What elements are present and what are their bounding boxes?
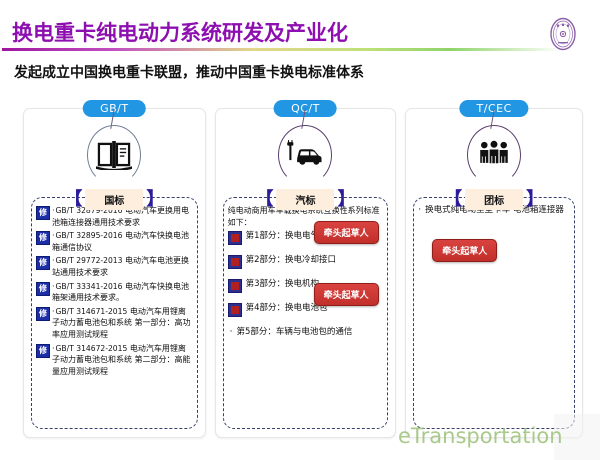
bullet: · xyxy=(52,256,55,265)
list-item-text: ·GB/T 33341-2016 电动汽车快换电池箱架通用技术要求。 xyxy=(52,281,193,304)
list-item-text: ·GB/T 32895-2016 电动汽车快换电池箱通信协议 xyxy=(52,230,193,253)
standards-card-gbt: GB/T 【 xyxy=(23,108,206,438)
bracket-right: 】 xyxy=(526,191,544,209)
tag-label: 汽标 xyxy=(276,189,334,210)
part-marker-icon xyxy=(228,303,242,317)
bullet: · xyxy=(230,327,233,338)
part-marker-icon xyxy=(228,231,242,245)
revision-badge: 修 xyxy=(36,282,50,296)
list-item: 修 ·GB/T 32895-2016 电动汽车快换电池箱通信协议 xyxy=(36,230,193,253)
bracket-right: 】 xyxy=(337,191,355,209)
standards-card-qct: QC/T xyxy=(215,108,397,438)
bullet: · xyxy=(52,282,55,291)
electric-car-charging-icon xyxy=(278,127,332,181)
watermark: eTransportation xyxy=(398,424,563,448)
standard-code: GB/T 29772-2013 xyxy=(56,256,123,265)
part-marker-icon xyxy=(228,255,242,269)
standard-code: GB/T 33341-2016 xyxy=(56,282,123,291)
revision-badge: 修 xyxy=(36,256,50,270)
bullet: · xyxy=(52,206,55,215)
standards-card-tcec: T/CEC 【 团标 】 xyxy=(405,108,583,438)
card-tag-guobiao: 【 国标 】 xyxy=(64,189,164,210)
bullet: · xyxy=(52,307,55,316)
open-book-icon xyxy=(87,127,141,181)
tag-label: 团标 xyxy=(465,189,523,210)
card-tag-qibiao: 【 汽标 】 xyxy=(255,189,355,210)
standards-list-tcec: · 换电式纯电动重型卡车 电池箱连接器 牵头起草人 xyxy=(418,205,570,425)
part-marker-icon xyxy=(228,279,242,293)
lead-drafter-badge: 牵头起草人 xyxy=(314,221,379,244)
standard-code: GB/T 32895-2016 xyxy=(56,231,123,240)
list-item-text: ·GB/T 314672-2015 电动汽车用锂离子动力蓄电池包和系统 第二部分… xyxy=(52,343,193,378)
bullet: · xyxy=(52,344,55,353)
revision-badge: 修 xyxy=(36,231,50,245)
list-item-text: 第3部分：换电机构 xyxy=(246,279,319,291)
university-seal-icon xyxy=(549,17,577,51)
list-item-text: 第5部分：车辆与电池包的通信 xyxy=(237,327,353,339)
standards-list-gbt: 修 ·GB/T 32879-2016 电动汽车更换用电池箱连接器通用技术要求 修… xyxy=(36,205,193,425)
revision-badge: 修 xyxy=(36,206,50,220)
list-item: 修 ·GB/T 33341-2016 电动汽车快换电池箱架通用技术要求。 xyxy=(36,281,193,304)
page-subtitle: 发起成立中国换电重卡联盟，推动中国重卡换电标准体系 xyxy=(14,62,364,82)
tag-label: 国标 xyxy=(85,189,143,210)
bracket-left: 【 xyxy=(255,191,273,209)
bracket-left: 【 xyxy=(444,191,462,209)
list-item: 修 ·GB/T 29772-2013 电动汽车电池更换站通用技术要求 xyxy=(36,255,193,278)
page-title: 换电重卡纯电动力系统研发及产业化 xyxy=(12,17,348,47)
lead-drafter-badge: 牵头起草人 xyxy=(314,283,379,306)
revision-badge: 修 xyxy=(36,344,50,358)
list-item: 修 ·GB/T 314671-2015 电动汽车用锂离子动力蓄电池包和系统 第一… xyxy=(36,306,193,341)
bullet: · xyxy=(418,205,421,216)
standard-code: GB/T 314672-2015 xyxy=(56,344,128,353)
list-item: 第2部分：换电冷却接口 xyxy=(228,255,384,269)
title-divider xyxy=(2,48,562,51)
standard-code: GB/T 314671-2015 xyxy=(56,307,128,316)
list-item-text: 第2部分：换电冷却接口 xyxy=(246,255,336,267)
bracket-left: 【 xyxy=(64,191,82,209)
list-item-text: ·GB/T 29772-2013 电动汽车电池更换站通用技术要求 xyxy=(52,255,193,278)
bracket-right: 】 xyxy=(146,191,164,209)
revision-badge: 修 xyxy=(36,307,50,321)
three-people-icon xyxy=(467,127,521,181)
list-item: · 第5部分：车辆与电池包的通信 xyxy=(228,327,384,339)
list-item: 修 ·GB/T 314672-2015 电动汽车用锂离子动力蓄电池包和系统 第二… xyxy=(36,343,193,378)
slide: 换电重卡纯电动力系统研发及产业化 发起成立中国换电重卡联盟，推动中国重卡换电标准… xyxy=(0,0,600,460)
list-item-text: ·GB/T 314671-2015 电动汽车用锂离子动力蓄电池包和系统 第一部分… xyxy=(52,306,193,341)
lead-drafter-badge: 牵头起草人 xyxy=(432,239,497,262)
card-tag-tuanbiao: 【 团标 】 xyxy=(444,189,544,210)
bullet: · xyxy=(52,231,55,240)
standards-list-qct: 纯电动商用车车载换电系统互换性系列标准如下： 牵头起草人 牵头起草人 第1部分：… xyxy=(228,205,384,425)
standards-columns: GB/T 【 xyxy=(23,108,583,438)
